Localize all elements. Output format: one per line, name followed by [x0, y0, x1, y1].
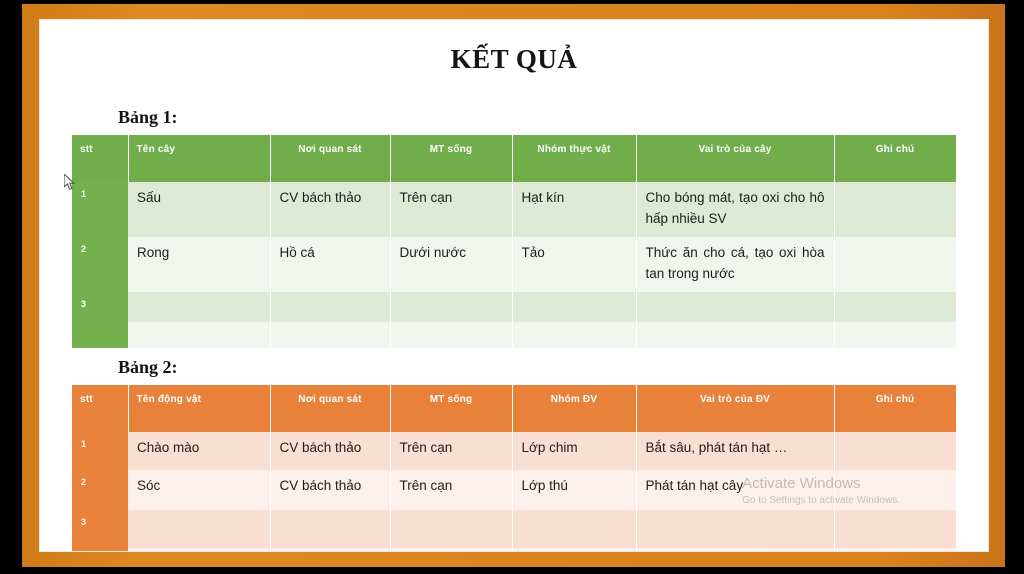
table1-row1-role: Cho bóng mát, tạo oxi cho hô hấp nhiều S…: [636, 182, 834, 237]
table1-row2-note: [834, 237, 956, 292]
table1-caption: Bảng 1:: [118, 107, 988, 128]
table2-row3-stt: 3: [72, 510, 128, 548]
table1-wrapper: stt Tên cây Nơi quan sát MT sống Nhóm th…: [72, 135, 956, 348]
table1-header-note: Ghi chú: [834, 135, 956, 182]
table1-row1-note: [834, 182, 956, 237]
table2-row4-group: [512, 548, 636, 551]
table1-header-name: Tên cây: [128, 135, 270, 182]
table2-row3-place: [270, 510, 390, 548]
table-row: 3: [72, 510, 956, 548]
table2-row3-note: [834, 510, 956, 548]
table1-row2-place: Hồ cá: [270, 237, 390, 292]
table1-row1-group: Hạt kín: [512, 182, 636, 237]
table1-row3-stt: 3: [72, 292, 128, 322]
table1-row2-role: Thức ăn cho cá, tạo oxi hòa tan trong nư…: [636, 237, 834, 292]
table2-row1-env: Trên cạn: [390, 432, 512, 470]
table1-row4-place: [270, 322, 390, 348]
table2-header-env: MT sống: [390, 385, 512, 432]
table1-row4-name: [128, 322, 270, 348]
table1-row3-role: [636, 292, 834, 322]
table2-row3-name: [128, 510, 270, 548]
slide-frame-border: KẾT QUẢ Bảng 1: stt Tên cây Nơi quan sát: [22, 4, 1005, 567]
table1-row1-place: CV bách thảo: [270, 182, 390, 237]
table2-header-name: Tên động vật: [128, 385, 270, 432]
table-row: 3: [72, 292, 956, 322]
table2-caption: Bảng 2:: [118, 357, 988, 378]
table2-row2-note: [834, 470, 956, 510]
table2-row1-name: Chào mào: [128, 432, 270, 470]
table1-row1-stt: 1: [72, 182, 128, 237]
table1-header-place: Nơi quan sát: [270, 135, 390, 182]
animals-table: stt Tên động vật Nơi quan sát MT sống Nh…: [72, 385, 957, 551]
table1-row4-stt: [72, 322, 128, 348]
table2-row4-name: [128, 548, 270, 551]
table2-row4-place: [270, 548, 390, 551]
mouse-cursor-icon: [64, 174, 77, 191]
table2-row4-note: [834, 548, 956, 551]
table2-row2-place: CV bách thảo: [270, 470, 390, 510]
table-row: 1 Chào mào CV bách thảo Trên cạn Lớp chi…: [72, 432, 956, 470]
table1-header-role: Vai trò của cây: [636, 135, 834, 182]
table2-row1-role: Bắt sâu, phát tán hạt …: [636, 432, 834, 470]
table2-header-row: stt Tên động vật Nơi quan sát MT sống Nh…: [72, 385, 956, 432]
table1-row4-role: [636, 322, 834, 348]
table1-row1-name: Sấu: [128, 182, 270, 237]
table1-header-group: Nhóm thực vật: [512, 135, 636, 182]
table1-header-row: stt Tên cây Nơi quan sát MT sống Nhóm th…: [72, 135, 956, 182]
table2-row1-place: CV bách thảo: [270, 432, 390, 470]
page-title: KẾT QUẢ: [40, 46, 988, 73]
table1-row1-env: Trên cạn: [390, 182, 512, 237]
table1-row2-group: Tảo: [512, 237, 636, 292]
table2-header-group: Nhóm ĐV: [512, 385, 636, 432]
table2-row3-group: [512, 510, 636, 548]
table2-row1-stt: 1: [72, 432, 128, 470]
table2-row2-stt: 2: [72, 470, 128, 510]
table1-row3-group: [512, 292, 636, 322]
table1-row4-env: [390, 322, 512, 348]
table1-row2-name: Rong: [128, 237, 270, 292]
table-row: 2 Sóc CV bách thảo Trên cạn Lớp thú Phát…: [72, 470, 956, 510]
table2-row2-role: Phát tán hạt cây: [636, 470, 834, 510]
table1-row3-note: [834, 292, 956, 322]
table1-row2-stt: 2: [72, 237, 128, 292]
table-row: 1 Sấu CV bách thảo Trên cạn Hạt kín Cho …: [72, 182, 956, 237]
table2-row3-env: [390, 510, 512, 548]
table-row: [72, 548, 956, 551]
table2-row2-name: Sóc: [128, 470, 270, 510]
table1-row4-group: [512, 322, 636, 348]
table2-row2-group: Lớp thú: [512, 470, 636, 510]
table2-header-note: Ghi chú: [834, 385, 956, 432]
table2-row1-note: [834, 432, 956, 470]
table1-row2-env: Dưới nước: [390, 237, 512, 292]
table2-row3-role: [636, 510, 834, 548]
table2-header-place: Nơi quan sát: [270, 385, 390, 432]
table1-row3-place: [270, 292, 390, 322]
table-row: 2 Rong Hồ cá Dưới nước Tảo Thức ăn cho c…: [72, 237, 956, 292]
table1-row3-name: [128, 292, 270, 322]
table1-header-stt: stt: [72, 135, 128, 182]
table2-header-role: Vai trò của ĐV: [636, 385, 834, 432]
table2-header-stt: stt: [72, 385, 128, 432]
table1-header-env: MT sống: [390, 135, 512, 182]
table2-row2-env: Trên cạn: [390, 470, 512, 510]
table-row: [72, 322, 956, 348]
table1-row3-env: [390, 292, 512, 322]
table2-wrapper: stt Tên động vật Nơi quan sát MT sống Nh…: [72, 385, 956, 551]
video-screen: KẾT QUẢ Bảng 1: stt Tên cây Nơi quan sát: [0, 0, 1024, 574]
table2-row4-role: [636, 548, 834, 551]
table2-row4-stt: [72, 548, 128, 551]
table2-row1-group: Lớp chim: [512, 432, 636, 470]
table1-row4-note: [834, 322, 956, 348]
plants-table: stt Tên cây Nơi quan sát MT sống Nhóm th…: [72, 135, 957, 348]
table2-row4-env: [390, 548, 512, 551]
presentation-slide: KẾT QUẢ Bảng 1: stt Tên cây Nơi quan sát: [40, 20, 988, 551]
